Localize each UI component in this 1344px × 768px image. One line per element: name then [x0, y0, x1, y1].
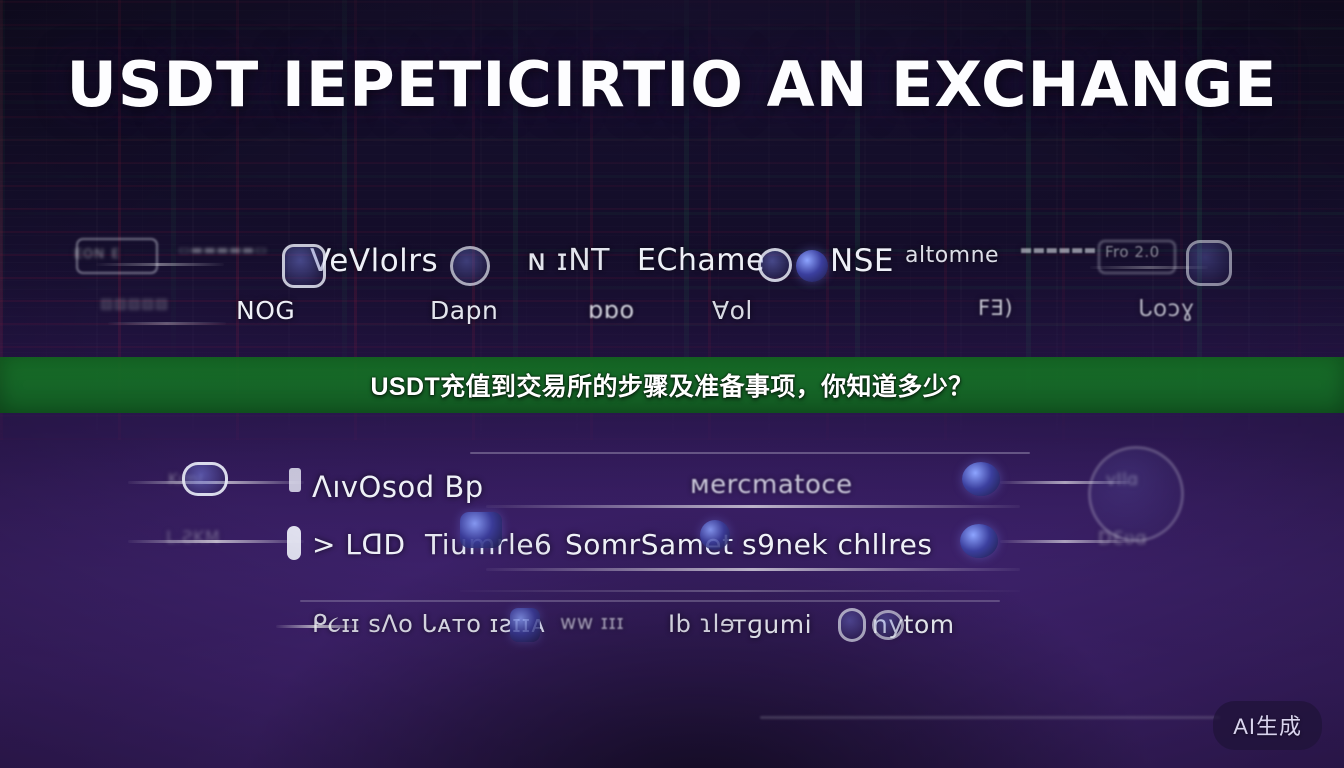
room-silhouette	[0, 438, 1344, 768]
article-title: USDT充值到交易所的步骤及准备事项，你知道多少？	[370, 367, 973, 403]
green-title-band: USDT充值到交易所的步骤及准备事项，你知道多少？	[0, 357, 1344, 413]
ai-generated-badge: AI生成	[1213, 701, 1322, 750]
hero-headline: USDT IEPETICIRTIO AN EXCHANGE	[0, 42, 1344, 128]
banner-image: ᴇᴏɴ ᴇ▭▬▬▬▬▬▭VeVlolrsɴ ɪNTEChameNSEaltomn…	[0, 0, 1344, 768]
